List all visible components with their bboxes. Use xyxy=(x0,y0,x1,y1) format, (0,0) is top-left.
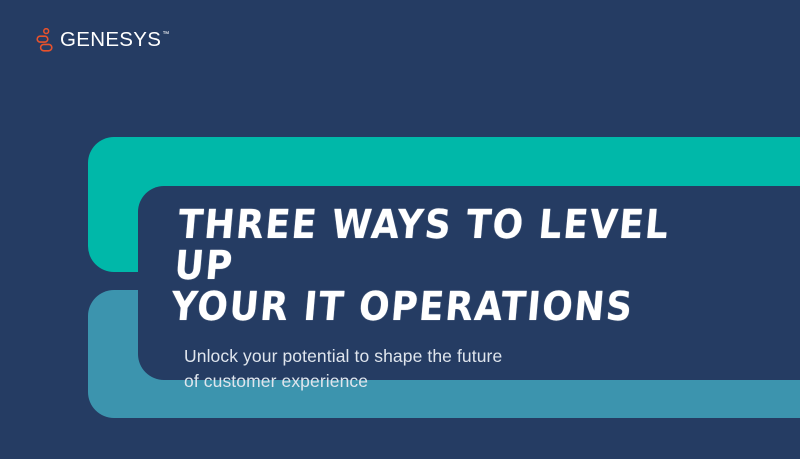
genesys-logo: GENESYS ™ xyxy=(36,27,169,53)
cover-slide: GENESYS ™ THREE WAYS TO LEVEL UP YOUR IT… xyxy=(0,0,800,459)
cover-copy: THREE WAYS TO LEVEL UP YOUR IT OPERATION… xyxy=(180,205,700,394)
trademark-symbol: ™ xyxy=(162,30,169,40)
genesys-wordmark: GENESYS ™ xyxy=(60,28,169,52)
page-title: THREE WAYS TO LEVEL UP YOUR IT OPERATION… xyxy=(169,205,700,328)
brand-name: GENESYS xyxy=(60,28,161,52)
genesys-logo-mark-icon xyxy=(36,28,53,52)
page-subtitle: Unlock your potential to shape the futur… xyxy=(184,344,700,394)
